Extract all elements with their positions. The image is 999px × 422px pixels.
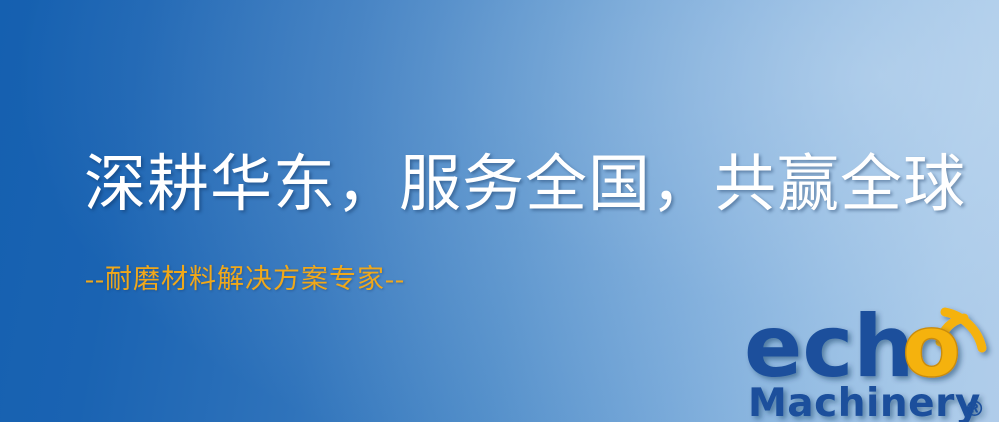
promo-banner: 深耕华东，服务全国，共赢全球 --耐磨材料解决方案专家-- ech o Mach… bbox=[0, 0, 999, 422]
logo-tagline: Machinery bbox=[748, 381, 981, 422]
page-title: 深耕华东，服务全国，共赢全球 bbox=[84, 152, 966, 219]
banner-subtitle: --耐磨材料解决方案专家-- bbox=[85, 265, 405, 295]
echo-machinery-logo[interactable]: ech o Machinery ® bbox=[742, 296, 999, 422]
logo-graphic: ech o Machinery ® bbox=[742, 296, 999, 422]
logo-registered-mark: ® bbox=[964, 397, 985, 421]
